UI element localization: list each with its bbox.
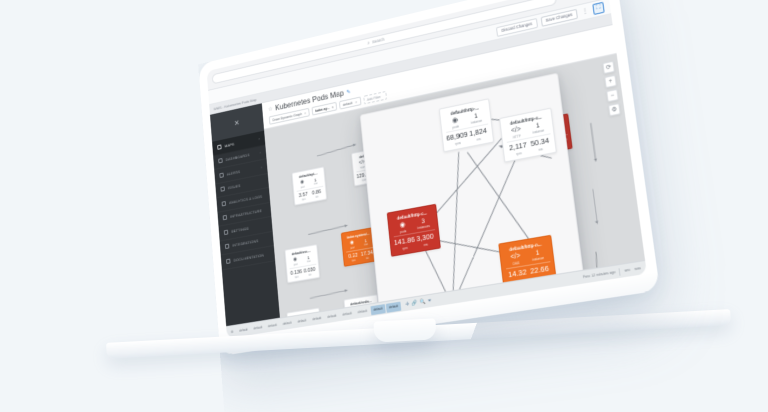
chevron-down-icon: ✕ (355, 100, 358, 104)
graph-node[interactable]: default/http-c...◉pods3instances141.86rp… (387, 204, 441, 257)
node-metric-b-label: ms (303, 273, 317, 278)
chevron-right-icon: › (258, 136, 260, 141)
star-icon[interactable]: ☆ (268, 106, 273, 113)
node-title: default/cron-... (290, 311, 317, 317)
sidebar-item-issues[interactable]: ISSUES (215, 173, 269, 198)
status-bar-tools: ✛🔗🔍⏷ (405, 298, 432, 308)
status-unit-a[interactable]: sec (624, 268, 630, 273)
sidebar-item-settings[interactable]: SETTINGS (219, 217, 273, 241)
status-tab[interactable]: default (370, 304, 386, 315)
status-divider (619, 268, 621, 276)
zoom-icon[interactable]: 🔍 (419, 299, 425, 306)
sidebar-close-icon[interactable]: ✕ (210, 103, 264, 142)
settings-icon[interactable]: ⚙ (608, 103, 621, 116)
pencil-icon[interactable]: ✎ (346, 89, 351, 95)
node-divider (346, 247, 374, 253)
sidebar: ✕ MAPS›DASHBOARDS›ALERTS›ISSUESANALYTICS… (210, 103, 280, 326)
status-tab[interactable]: default (251, 323, 265, 334)
analytics-icon (222, 201, 226, 206)
graph-node[interactable]: default/api-...◉pod1inst3.57rpm0.86ms (292, 166, 328, 206)
server-icon (223, 215, 227, 220)
node-metric-b-label: ms (360, 256, 374, 261)
node-title: default/db-... (354, 150, 382, 159)
search-icon: ⌕ (367, 40, 370, 45)
graph-node[interactable]: default/cron-...◉pod1inst0.23rpm0.480ms (286, 307, 322, 317)
sidebar-item-label: SETTINGS (231, 226, 249, 234)
page-title: Kubernetes Pods Map (275, 89, 344, 112)
node-instance-count: 1 (369, 156, 383, 164)
dashboard-icon (218, 158, 222, 163)
node-metric-b: 0.273 (371, 169, 385, 177)
chevron-down-icon: ▾ (304, 111, 306, 115)
status-updated-label: Prev. 12 minutes ago (582, 270, 615, 279)
node-metric-a: 0.136 (289, 268, 303, 276)
screenshot-stage: ⌕ Search ⚐ admin Discard Changes Save Ch… (0, 0, 768, 412)
sidebar-item-label: ALERTS (227, 169, 241, 176)
sidebar-item-label: INTEGRATIONS (232, 239, 258, 248)
node-metric-b: 17.34 (360, 249, 374, 257)
graph-node[interactable]: default/svc-...◉pod1inst0.136rpm0.030ms (285, 244, 321, 283)
status-tab[interactable]: default (265, 320, 279, 331)
node-metric-a-label: rpm (347, 258, 361, 263)
filter-add-filter[interactable]: Add Filter (363, 91, 387, 105)
node-metric-a: 0.22 (346, 252, 360, 260)
node-type-label: TCP (356, 165, 370, 171)
search-placeholder: Search (372, 37, 385, 44)
sidebar-item-analytics-logs[interactable]: ANALYTICS & LOGS (216, 188, 270, 213)
status-tab[interactable]: default (386, 301, 402, 312)
filter-label: Draw Dynamic Graph (272, 112, 302, 122)
node-metric-b: 0.030 (303, 266, 317, 274)
book-icon (226, 258, 230, 263)
sidebar-item-label: DOCUMENTATION (233, 252, 264, 262)
laptop-body: ⌕ Search ⚐ admin Discard Changes Save Ch… (198, 0, 660, 356)
zoom-out-icon[interactable]: − (606, 89, 619, 102)
sidebar-item-label: ANALYTICS & LOGS (229, 194, 262, 205)
node-type-label: pod (289, 262, 303, 267)
node-title: kube-system/... (344, 231, 372, 240)
node-instance-label: inst (302, 259, 316, 264)
issue-icon (220, 187, 224, 192)
node-metric-b-label: ms (371, 175, 384, 180)
sidebar-item-label: ISSUES (228, 183, 241, 190)
node-instance-label: inst (359, 242, 373, 247)
zoom-in-icon[interactable]: + (604, 75, 617, 88)
filter-label: Add Filter (367, 95, 381, 102)
status-tab[interactable]: default (339, 308, 354, 319)
sidebar-item-label: MAPS (224, 141, 234, 148)
link-icon[interactable]: 🔗 (411, 300, 417, 307)
node-title: default/api-... (295, 170, 322, 179)
node-instance-count: 1 (358, 237, 372, 244)
filter-label: kube-sy... (315, 106, 330, 113)
node-divider (296, 186, 323, 192)
node-type-icon: ◉ (288, 256, 302, 264)
filter-icon[interactable]: ⏷ (428, 298, 432, 305)
node-metric-a-label: rpm (357, 178, 372, 184)
status-unit-b[interactable]: now (634, 266, 641, 271)
status-tab[interactable]: default (236, 325, 250, 336)
node-type-icon: ▤ (348, 306, 362, 314)
sidebar-item-alerts[interactable]: ALERTS› (214, 159, 268, 184)
node-metric-a-label: rpm (290, 275, 304, 280)
node-metric-a: 129.19 (356, 171, 371, 180)
graph-node[interactable]: kube-system/...◉pod1inst0.22rpm17.34ms (341, 227, 378, 267)
node-metric-a-label: rpm (297, 197, 310, 202)
filter-default[interactable]: default✕ (339, 97, 361, 110)
browser-tab-title[interactable]: WMS - Kubernetes Pods Map (213, 97, 256, 111)
node-instance-count: 1 (302, 254, 316, 261)
filter-draw-dynamic-graph[interactable]: Draw Dynamic Graph▾ (269, 108, 310, 125)
node-type-icon: ◉ (295, 179, 309, 187)
filter-kube-sy[interactable]: kube-sy...▾ (311, 102, 337, 116)
status-tab[interactable]: default (309, 313, 324, 324)
node-metric-b: 0.86 (310, 188, 324, 196)
chevron-down-icon: ▾ (332, 105, 334, 109)
map-icon (217, 144, 221, 149)
node-title: default/svc-... (288, 248, 315, 257)
sidebar-item-infrastructure[interactable]: INFRASTRUCTURE (217, 202, 271, 226)
node-instance-label: inst (309, 181, 323, 186)
fullscreen-icon[interactable]: ⛶ (592, 2, 604, 15)
status-tab[interactable]: default (355, 306, 370, 317)
node-type-icon: </> (355, 159, 369, 167)
laptop-mockup: ⌕ Search ⚐ admin Discard Changes Save Ch… (178, 8, 668, 368)
status-tab[interactable]: default (280, 318, 295, 329)
kebab-menu-icon[interactable]: ⋮ (581, 7, 590, 16)
refresh-icon[interactable]: ⟳ (602, 61, 615, 74)
gear-icon (224, 229, 228, 234)
graph-node[interactable]: default/db-...</>TCP1inst129.19rpm0.273m… (351, 146, 388, 186)
sidebar-item-integrations[interactable]: INTEGRATIONS (220, 231, 274, 255)
status-tab[interactable]: default (324, 311, 339, 322)
chevron-right-icon: › (261, 164, 263, 169)
node-instance-count: 1 (309, 176, 323, 183)
pan-icon[interactable]: ✛ (405, 301, 409, 308)
sidebar-items: MAPS›DASHBOARDS›ALERTS›ISSUESANALYTICS &… (212, 131, 275, 270)
sidebar-item-documentation[interactable]: DOCUMENTATION (221, 246, 275, 270)
node-divider (289, 264, 316, 270)
sidebar-item-label: DASHBOARDS (226, 153, 250, 163)
sidebar-item-maps[interactable]: MAPS› (212, 131, 265, 156)
node-type-label: pod (296, 184, 309, 189)
node-metric-a: 3.57 (296, 191, 310, 199)
node-instance-label: inst (369, 161, 383, 167)
node-type-label: pod (345, 245, 359, 250)
node-title: default/redis... (347, 298, 375, 306)
plug-icon (225, 244, 229, 249)
node-type-label: db (348, 312, 362, 317)
bell-icon[interactable]: ⚐ (561, 0, 570, 2)
node-type-icon: ◉ (345, 239, 359, 247)
alert-icon (219, 172, 223, 177)
filter-label: default (343, 101, 353, 107)
sidebar-item-label: INFRASTRUCTURE (230, 208, 262, 219)
sidebar-item-dashboards[interactable]: DASHBOARDS› (213, 145, 266, 170)
status-tab[interactable]: default (295, 316, 310, 327)
node-type-icon: ▤ (542, 314, 558, 318)
chevron-right-icon: › (259, 150, 261, 155)
node-metric-b-label: ms (310, 195, 324, 200)
node-divider (356, 166, 384, 172)
